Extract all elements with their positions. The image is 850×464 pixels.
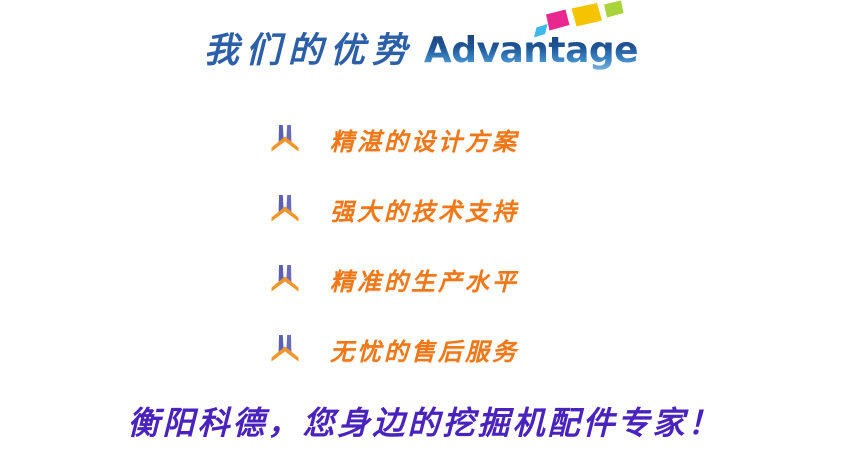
list-item-label: 精准的生产水平 bbox=[330, 262, 519, 297]
page-title-block: 我们的优势Advantage bbox=[0, 22, 850, 73]
advantage-feature-list: 精湛的设计方案 强大的技术支持 精准的生产水平 bbox=[0, 104, 850, 384]
arch-pillar-icon bbox=[268, 192, 302, 226]
page-title-english: Advantage bbox=[424, 30, 638, 71]
list-item: 无忧的售后服务 bbox=[0, 314, 850, 384]
green-diamond-icon bbox=[604, 1, 624, 18]
advantage-page: 我们的优势Advantage bbox=[0, 0, 850, 464]
page-title: 我们的优势Advantage bbox=[204, 22, 646, 73]
list-item-label: 精湛的设计方案 bbox=[330, 122, 519, 157]
arch-pillar-icon bbox=[268, 332, 302, 366]
arch-pillar-icon bbox=[268, 262, 302, 296]
list-item-label: 强大的技术支持 bbox=[330, 192, 519, 227]
list-item: 强大的技术支持 bbox=[0, 174, 850, 244]
page-title-chinese: 我们的优势 bbox=[204, 22, 414, 73]
list-item: 精准的生产水平 bbox=[0, 244, 850, 314]
arch-pillar-icon bbox=[268, 122, 302, 156]
list-item: 精湛的设计方案 bbox=[0, 104, 850, 174]
footer-tagline: 衡阳科德，您身边的挖掘机配件专家！ bbox=[0, 398, 850, 444]
list-item-label: 无忧的售后服务 bbox=[330, 332, 519, 367]
